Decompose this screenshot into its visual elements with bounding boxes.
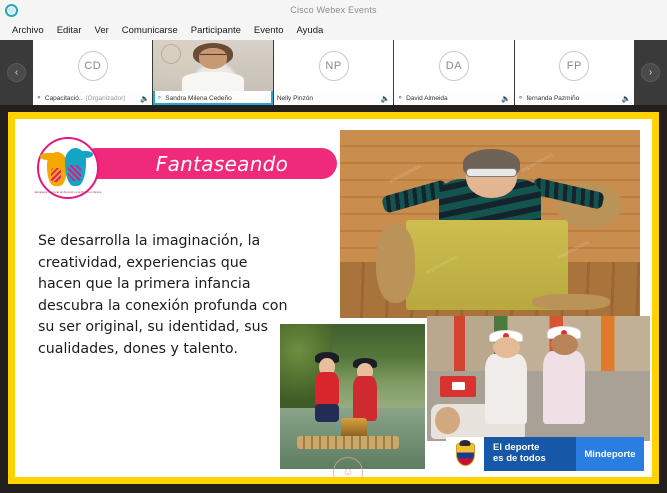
teal-bird-icon: [65, 148, 86, 186]
cardboard-propeller: [376, 224, 415, 303]
menu-item-ver[interactable]: Ver: [89, 23, 116, 38]
menu-label: Editar: [57, 25, 82, 36]
participant-video-area: [153, 40, 272, 91]
filmstrip-prev-button[interactable]: ‹: [0, 40, 33, 105]
participant-footer: Nelly Pinzón 🔈: [274, 91, 393, 105]
patient-head: [435, 407, 459, 434]
participant-avatar-area: NP: [274, 40, 393, 91]
child-nurse-right: [543, 351, 585, 424]
toy-medical-kit-icon: [440, 376, 476, 397]
photo-children-playing-doctor: [427, 316, 650, 441]
slide-brand-header: Fantaseando Estrategia Nacional de Atenc…: [37, 137, 337, 195]
menu-item-editar[interactable]: Editar: [51, 23, 89, 38]
treasure-chest-icon: [341, 418, 367, 437]
muted-microphone-icon[interactable]: 🔈: [501, 94, 510, 103]
participant-name: fernanda Pazmiño: [527, 95, 580, 102]
birds-mark: [47, 148, 89, 188]
participant-tile-fernanda-pazmino[interactable]: FP ⚬ fernanda Pazmiño 🔈: [515, 40, 634, 105]
wooden-raft: [297, 436, 399, 449]
muted-microphone-icon[interactable]: 🔈: [140, 94, 149, 103]
coat-rack-wall: [427, 316, 650, 371]
child-head: [551, 334, 578, 356]
menu-label: Evento: [254, 25, 284, 36]
photo-child-in-cardboard-airplane: depositphotos depositphotos depositphoto…: [340, 130, 640, 318]
child-head: [493, 337, 520, 358]
participant-avatar-area: DA: [394, 40, 513, 91]
two-birds-logo-icon: Estrategia Nacional de Atención a la Pri…: [37, 137, 99, 199]
participant-footer: ⚬ fernanda Pazmiño 🔈: [515, 91, 634, 105]
menu-label: Archivo: [12, 25, 44, 36]
webcam-video: [153, 40, 272, 91]
participant-tile-david-almeida[interactable]: DA ⚬ David Almeida 🔈: [394, 40, 513, 105]
ministry-name: Mindeporte: [576, 437, 644, 471]
avatar: NP: [319, 51, 349, 81]
menu-label: Ayuda: [297, 25, 324, 36]
participant-footer: ⚬ Sandra Milena Cedeño: [153, 91, 272, 105]
slide-title-ribbon: Fantaseando: [81, 148, 337, 179]
red-shirt: [315, 372, 340, 406]
participant-avatar-area: CD: [33, 40, 152, 91]
slogan-line-2: es de todos: [493, 454, 576, 465]
headset-icon: ⚬: [397, 94, 403, 102]
webex-events-window: Cisco Webex Events Archivo Editar Ver Co…: [0, 0, 667, 493]
menu-item-archivo[interactable]: Archivo: [6, 23, 51, 38]
participant-filmstrip: ‹ CD ⚬ Capacitació.. (Organizador) 🔈: [0, 40, 667, 105]
participant-name: Sandra Milena Cedeño: [165, 95, 232, 102]
participant-name: Capacitació..: [45, 95, 83, 102]
muted-microphone-icon[interactable]: 🔈: [622, 94, 631, 103]
goggles-icon: [466, 168, 517, 177]
photo-children-pirates-on-raft: [280, 324, 425, 469]
participant-role: (Organizador): [85, 95, 125, 102]
cardboard-tail: [532, 294, 610, 311]
menu-item-ayuda[interactable]: Ayuda: [291, 23, 331, 38]
red-overalls: [353, 376, 378, 421]
dreamcatcher-decor: [161, 44, 181, 64]
child-nurse-left: [485, 354, 527, 424]
shared-content-stage[interactable]: Fantaseando Estrategia Nacional de Atenc…: [0, 105, 667, 493]
colombia-coat-of-arms-icon: [446, 437, 484, 471]
filmstrip-next-button[interactable]: ›: [634, 40, 667, 105]
avatar: FP: [559, 51, 589, 81]
navy-skirt: [315, 404, 340, 422]
participant-tile-nelly-pinzon[interactable]: NP Nelly Pinzón 🔈: [274, 40, 393, 105]
participant-avatar-area: FP: [515, 40, 634, 91]
participant-tiles: CD ⚬ Capacitació.. (Organizador) 🔈: [33, 40, 634, 105]
badge-ring-label: Estrategia Nacional de Atención a la Pri…: [35, 191, 102, 194]
menu-label: Comunicarse: [122, 25, 178, 36]
participant-tile-sandra-milena-cedeno[interactable]: ⚬ Sandra Milena Cedeño: [153, 40, 272, 105]
participant-tile-capacitacion[interactable]: CD ⚬ Capacitació.. (Organizador) 🔈: [33, 40, 152, 105]
participant-footer: ⚬ Capacitació.. (Organizador) 🔈: [33, 91, 152, 105]
menu-item-comunicarse[interactable]: Comunicarse: [116, 23, 185, 38]
menu-label: Participante: [191, 25, 241, 36]
slide-yellow-frame: Fantaseando Estrategia Nacional de Atenc…: [8, 112, 659, 484]
person-torso: [182, 72, 244, 91]
government-banner: El deporte es de todos Mindeporte: [446, 437, 644, 471]
window-title: Cisco Webex Events: [0, 5, 667, 15]
avatar: CD: [78, 51, 108, 81]
headset-icon: ⚬: [156, 94, 162, 102]
participant-footer: ⚬ David Almeida 🔈: [394, 91, 513, 105]
headset-icon: ⚬: [518, 94, 524, 102]
menu-label: Ver: [95, 25, 109, 36]
slide-title: Fantaseando: [156, 152, 288, 176]
slide-body-text: Se desarrolla la imaginación, la creativ…: [38, 231, 288, 360]
headset-icon: ⚬: [36, 94, 42, 102]
menu-bar: Archivo Editar Ver Comunicarse Participa…: [0, 20, 667, 40]
chevron-left-icon: ‹: [7, 63, 26, 82]
presentation-slide: Fantaseando Estrategia Nacional de Atenc…: [15, 119, 652, 477]
government-slogan: El deporte es de todos: [484, 437, 576, 471]
participant-name: Nelly Pinzón: [277, 95, 313, 102]
child-pirate-left: [315, 372, 340, 433]
yellow-bird-icon: [47, 152, 67, 186]
shield-mark: [456, 443, 475, 466]
participant-name: David Almeida: [406, 95, 448, 102]
menu-item-evento[interactable]: Evento: [248, 23, 291, 38]
glasses-icon: [200, 54, 226, 60]
title-bar: Cisco Webex Events: [0, 0, 667, 20]
muted-microphone-icon[interactable]: 🔈: [381, 94, 390, 103]
menu-item-participante[interactable]: Participante: [185, 23, 248, 38]
avatar: DA: [439, 51, 469, 81]
chevron-right-icon: ›: [641, 63, 660, 82]
